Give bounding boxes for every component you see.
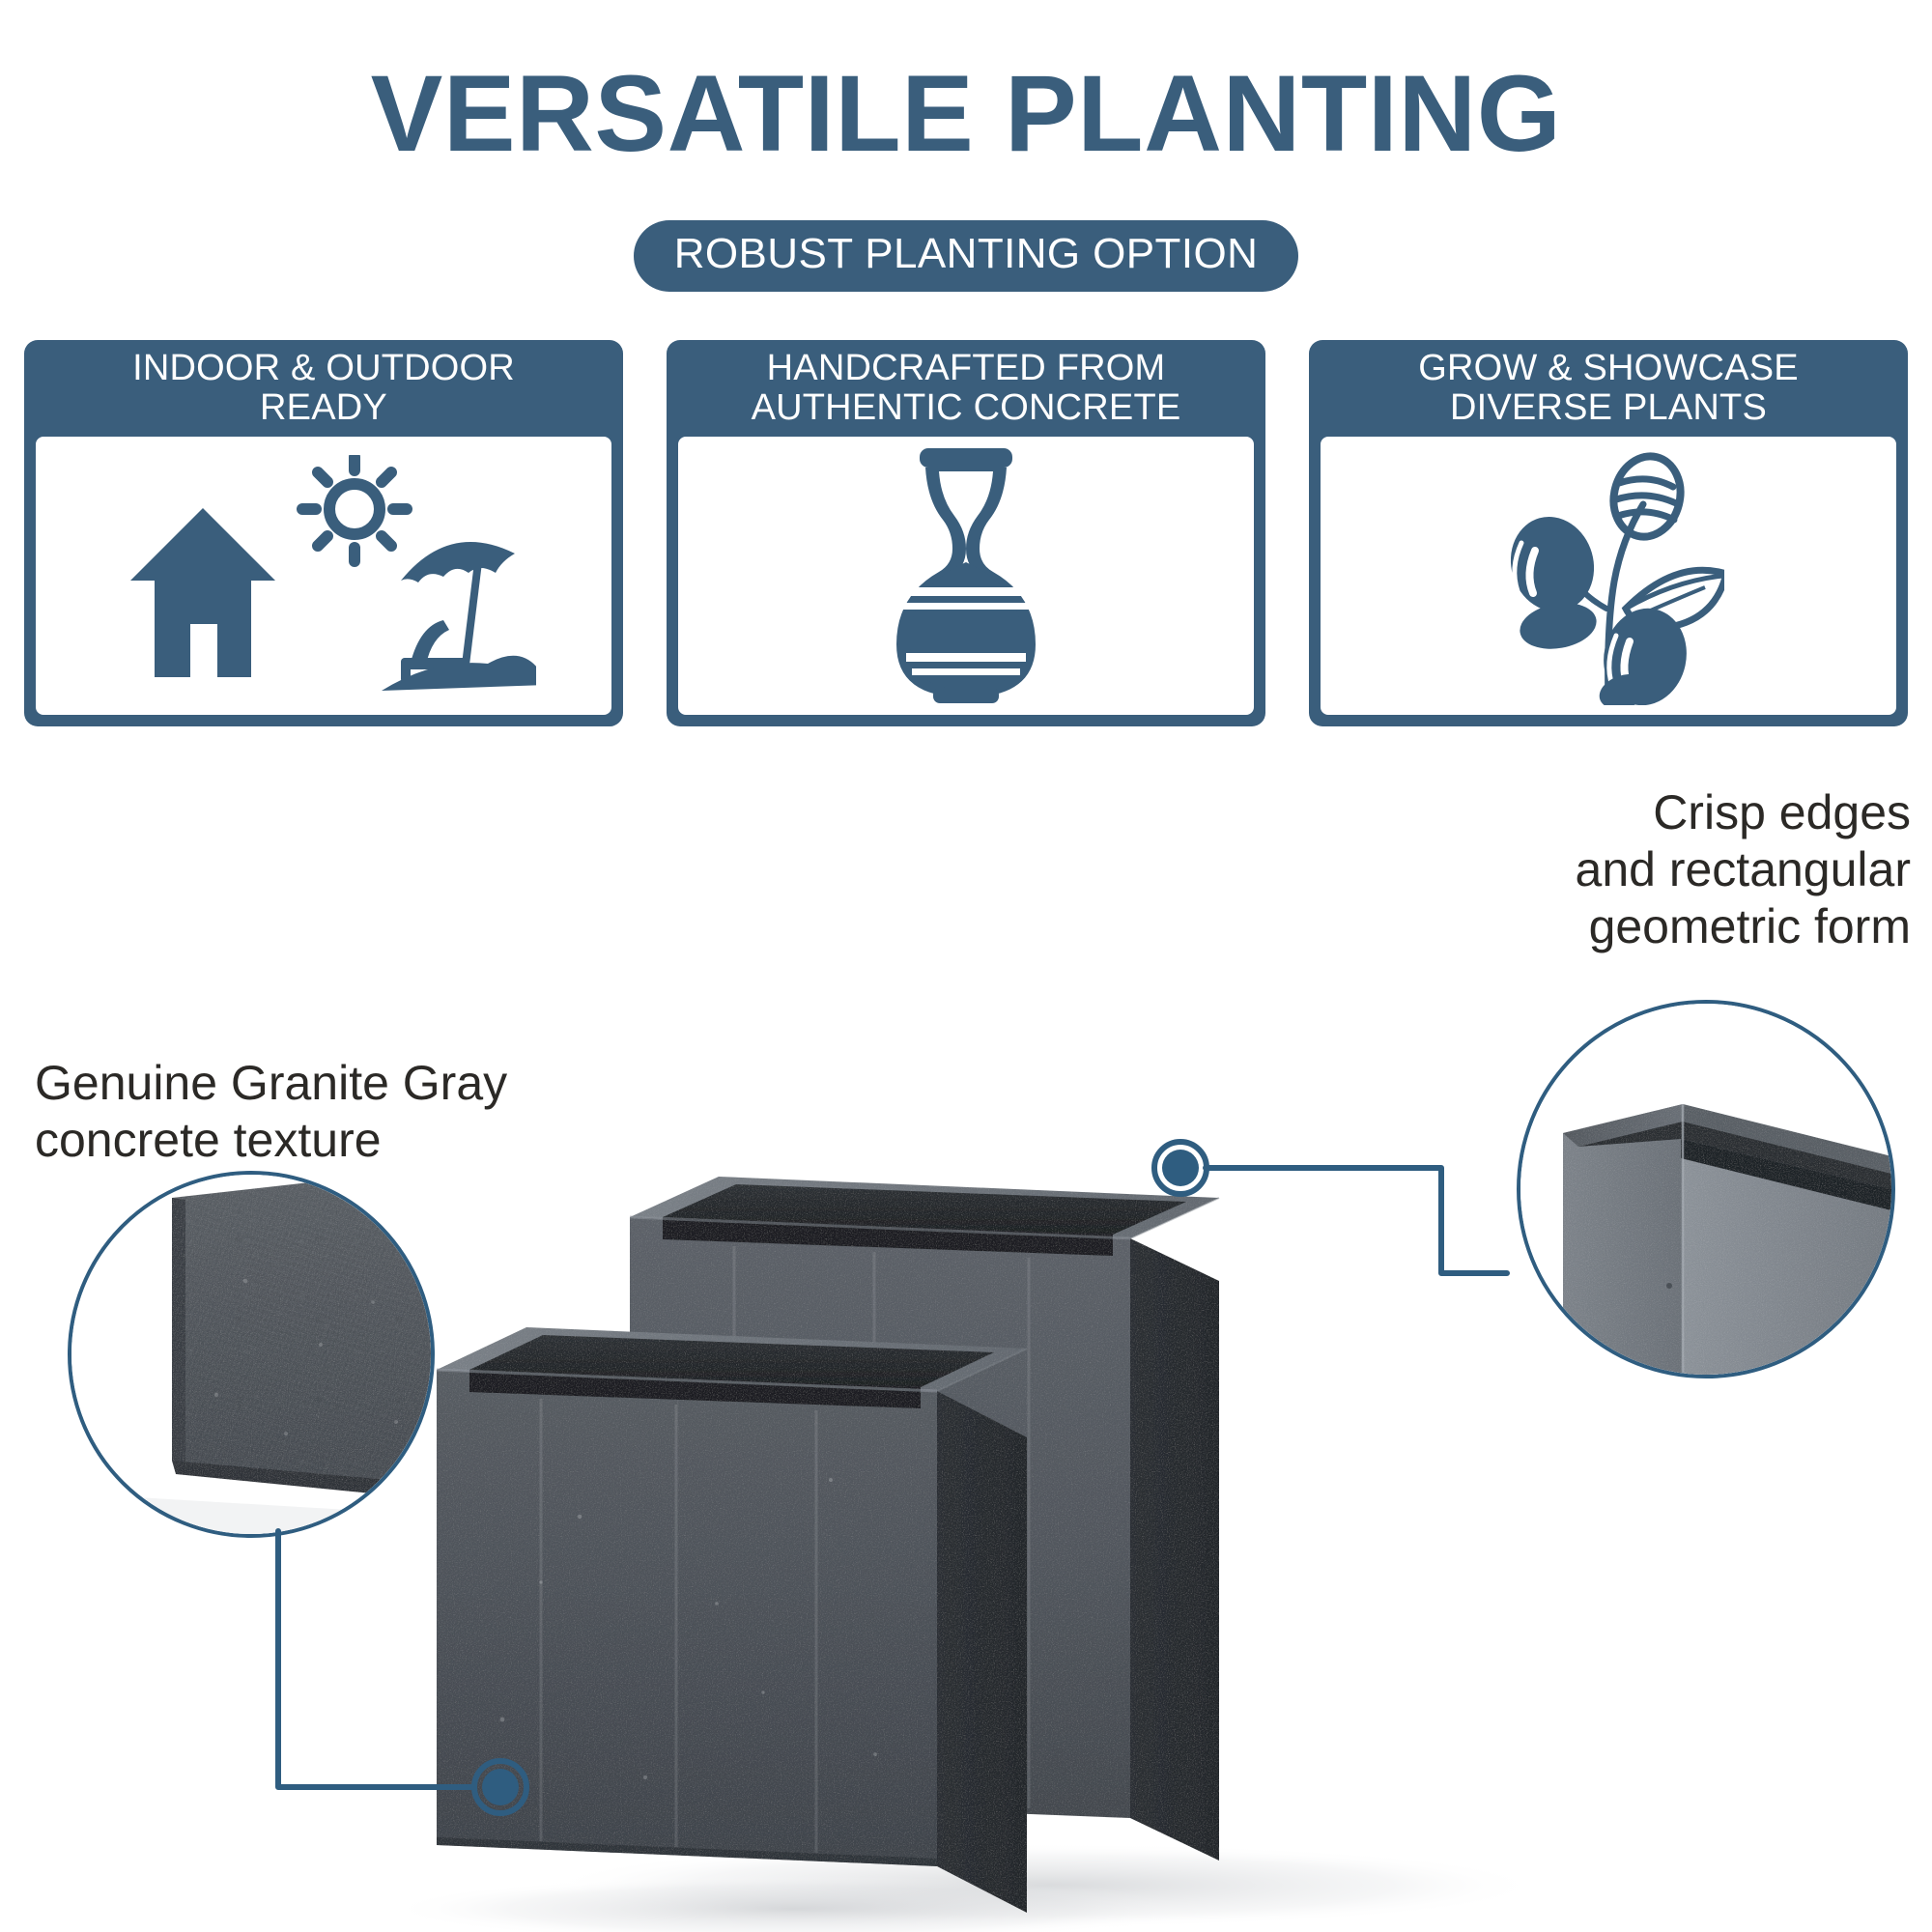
feature-card-diverse-plants: GROW & SHOWCASE DIVERSE PLANTS <box>1309 340 1908 726</box>
sun-icon <box>302 457 407 561</box>
infographic-canvas: VERSATILE PLANTING ROBUST PLANTING OPTIO… <box>0 0 1932 1932</box>
feature-card-header: HANDCRAFTED FROM AUTHENTIC CONCRETE <box>667 340 1265 433</box>
subtitle-pill: ROBUST PLANTING OPTION <box>634 220 1299 292</box>
feature-card-icon-area <box>32 433 615 719</box>
feature-card-header: GROW & SHOWCASE DIVERSE PLANTS <box>1309 340 1908 433</box>
feature-card-title: INDOOR & OUTDOOR READY <box>132 349 515 428</box>
feature-card-icon-area <box>674 433 1258 719</box>
page-title: VERSATILE PLANTING <box>0 60 1932 168</box>
feature-card-row: INDOOR & OUTDOOR READY <box>24 340 1908 726</box>
house-icon <box>130 508 275 677</box>
feature-card-title: GROW & SHOWCASE DIVERSE PLANTS <box>1418 349 1799 428</box>
beach-umbrella-icon <box>382 542 536 691</box>
detail-circle-concrete-texture <box>68 1171 435 1538</box>
vase-icon <box>869 446 1063 705</box>
feature-card-icon-area <box>1317 433 1900 719</box>
feature-card-authentic-concrete: HANDCRAFTED FROM AUTHENTIC CONCRETE <box>667 340 1265 726</box>
feature-card-header: INDOOR & OUTDOOR READY <box>24 340 623 433</box>
feature-card-title: HANDCRAFTED FROM AUTHENTIC CONCRETE <box>752 349 1181 428</box>
feature-card-indoor-outdoor: INDOOR & OUTDOOR READY <box>24 340 623 726</box>
detail-circle-crisp-corner <box>1517 1000 1895 1378</box>
subtitle-row: ROBUST PLANTING OPTION <box>0 220 1932 292</box>
berry-branch-icon <box>1492 446 1724 705</box>
callout-crisp-edges-label: Crisp edges and rectangular geometric fo… <box>1576 784 1911 955</box>
planter-front <box>437 1327 1027 1913</box>
